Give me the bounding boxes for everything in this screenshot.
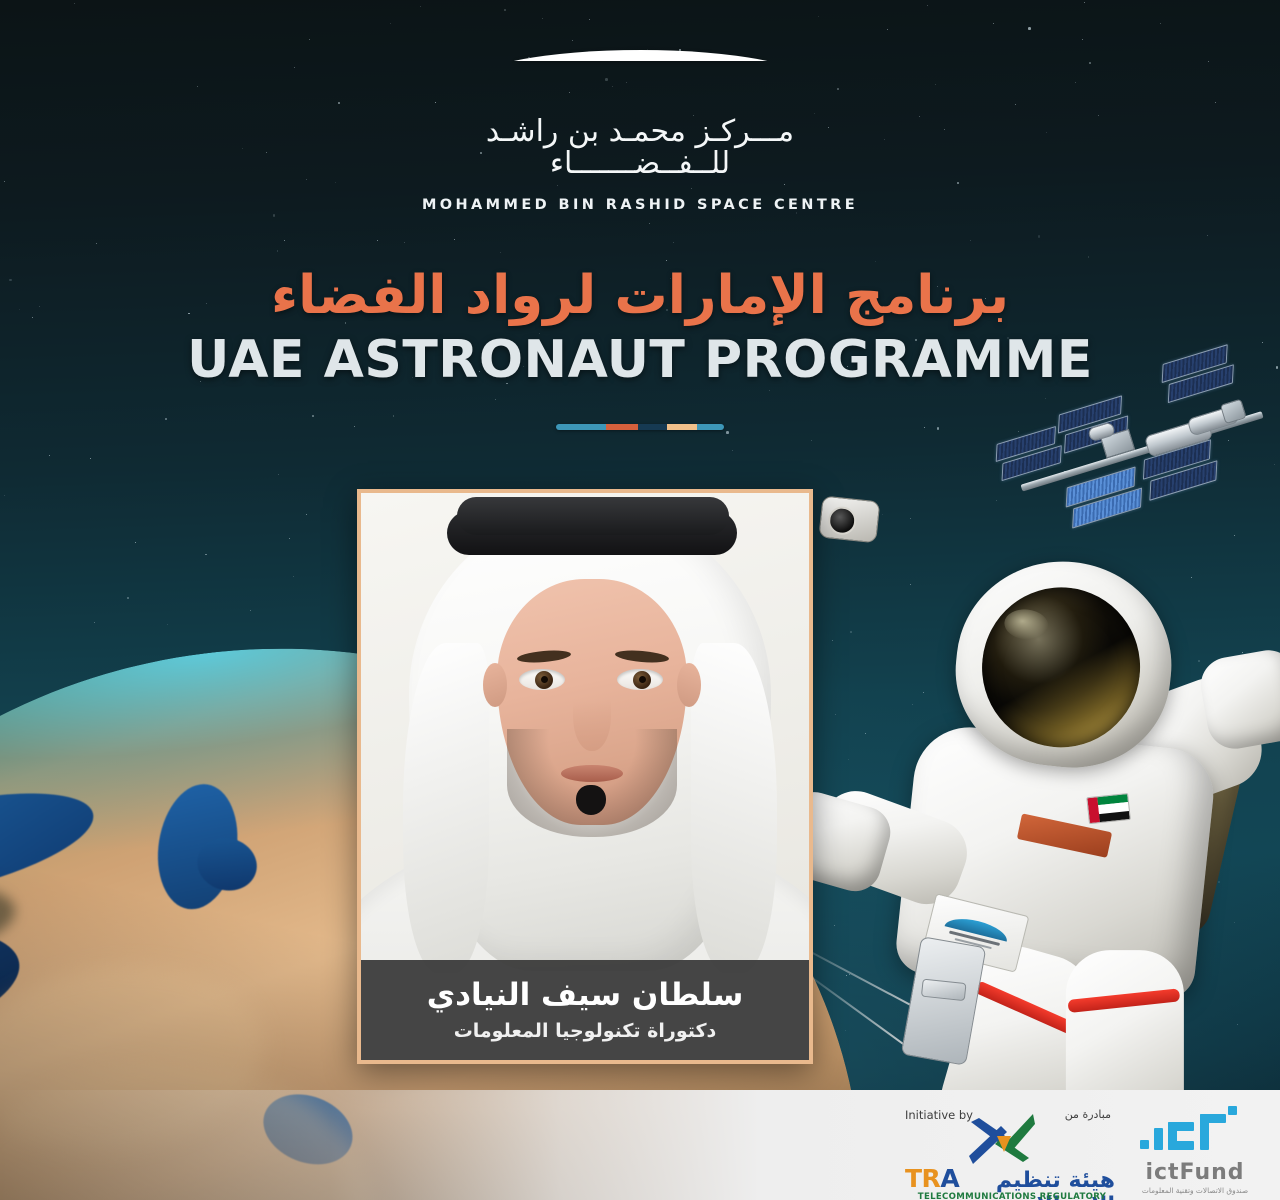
star: [666, 260, 667, 261]
tra-english-name: TELECOMMUNICATIONS REGULATORY AUTHORITY: [905, 1192, 1119, 1200]
ict-fund-logo: ictFund صندوق الاتصالات وتقنية المعلومات: [1120, 1106, 1270, 1195]
star: [454, 239, 455, 240]
mbrsc-logo-arabic-line2: للــفــضـــــــاء: [0, 147, 1280, 180]
crescent-arc-icon: [468, 50, 813, 84]
ict-fund-arabic-name: صندوق الاتصالات وتقنية المعلومات: [1120, 1186, 1270, 1195]
mbrsc-logo-english: MOHAMMED BIN RASHID SPACE CENTRE: [0, 197, 1280, 213]
star: [1234, 535, 1235, 536]
divider-segment: [556, 424, 606, 430]
star: [127, 597, 129, 599]
star: [96, 243, 97, 244]
star: [542, 18, 543, 19]
ict-fund-mark-icon: [1136, 1106, 1254, 1158]
star: [90, 458, 91, 459]
star: [1028, 27, 1031, 30]
star: [875, 261, 876, 262]
star: [289, 538, 290, 539]
ict-fund-wordmark: ictFund: [1120, 1160, 1270, 1185]
star: [284, 240, 285, 241]
star: [673, 242, 674, 243]
star: [1088, 256, 1090, 258]
tra-arrow-mark-icon: [967, 1112, 1037, 1166]
divider-segment: [697, 424, 724, 430]
star: [306, 514, 307, 515]
star: [818, 16, 819, 17]
star: [74, 3, 75, 4]
astronaut-camera-icon: [818, 496, 880, 544]
star: [205, 554, 207, 556]
star: [135, 542, 136, 543]
star: [277, 250, 279, 252]
candidate-role: دكتوراة تكنولوجيا المعلومات: [373, 1020, 797, 1042]
star: [887, 29, 888, 30]
star: [927, 5, 928, 6]
star: [504, 9, 506, 11]
candidate-portrait-card: سلطان سيف النيادي دكتوراة تكنولوجيا المع…: [357, 489, 813, 1064]
star: [996, 500, 997, 501]
astronaut-spacewalk-icon: [760, 496, 1280, 1145]
poster-root: مـــركـز محمـد بن راشـد للــفــضـــــــا…: [0, 0, 1280, 1200]
star: [500, 252, 501, 253]
star: [726, 431, 729, 434]
programme-title-block: برنامج الإمارات لرواد الفضاء UAE ASTRONA…: [0, 266, 1280, 430]
tra-acronym: TRA: [905, 1164, 959, 1193]
star: [167, 624, 168, 625]
tra-initiative-en: Initiative by: [905, 1104, 973, 1122]
star: [970, 240, 971, 241]
title-divider: [556, 424, 724, 430]
candidate-name: سلطان سيف النيادي: [373, 976, 797, 1015]
star: [732, 450, 733, 451]
divider-segment: [606, 424, 638, 430]
star: [1082, 39, 1083, 40]
star: [390, 23, 391, 24]
star: [649, 223, 650, 224]
star: [589, 19, 590, 20]
star: [293, 576, 294, 577]
star: [309, 39, 310, 40]
star: [4, 495, 5, 496]
star: [250, 610, 251, 611]
star: [420, 6, 421, 7]
star: [811, 440, 812, 441]
divider-segment: [638, 424, 667, 430]
star: [273, 214, 276, 217]
star: [278, 474, 279, 475]
tra-initiative-ar: مبادرة من: [1065, 1104, 1111, 1121]
star: [572, 40, 573, 41]
mbrsc-logo: مـــركـز محمـد بن راشـد للــفــضـــــــا…: [0, 50, 1280, 213]
star: [49, 455, 50, 456]
mbrsc-logo-arabic-line1: مـــركـز محمـد بن راشـد: [0, 114, 1280, 149]
programme-title-arabic: برنامج الإمارات لرواد الفضاء: [0, 266, 1280, 325]
footer-bar: Initiative by مبادرة من TRA هيئة تنظيم ا…: [0, 1090, 1280, 1200]
star: [1160, 23, 1161, 24]
candidate-caption: سلطان سيف النيادي دكتوراة تكنولوجيا المع…: [361, 960, 809, 1060]
divider-segment: [667, 424, 697, 430]
star: [1038, 235, 1041, 238]
star: [94, 622, 95, 623]
star: [404, 242, 405, 243]
tra-logo: Initiative by مبادرة من TRA هيئة تنظيم ا…: [905, 1104, 1111, 1122]
star: [1207, 235, 1208, 236]
programme-title-english: UAE ASTRONAUT PROGRAMME: [0, 330, 1280, 390]
star: [1084, 2, 1085, 3]
star: [377, 240, 378, 241]
star: [993, 23, 994, 24]
uae-flag-patch-icon: [1086, 793, 1131, 824]
